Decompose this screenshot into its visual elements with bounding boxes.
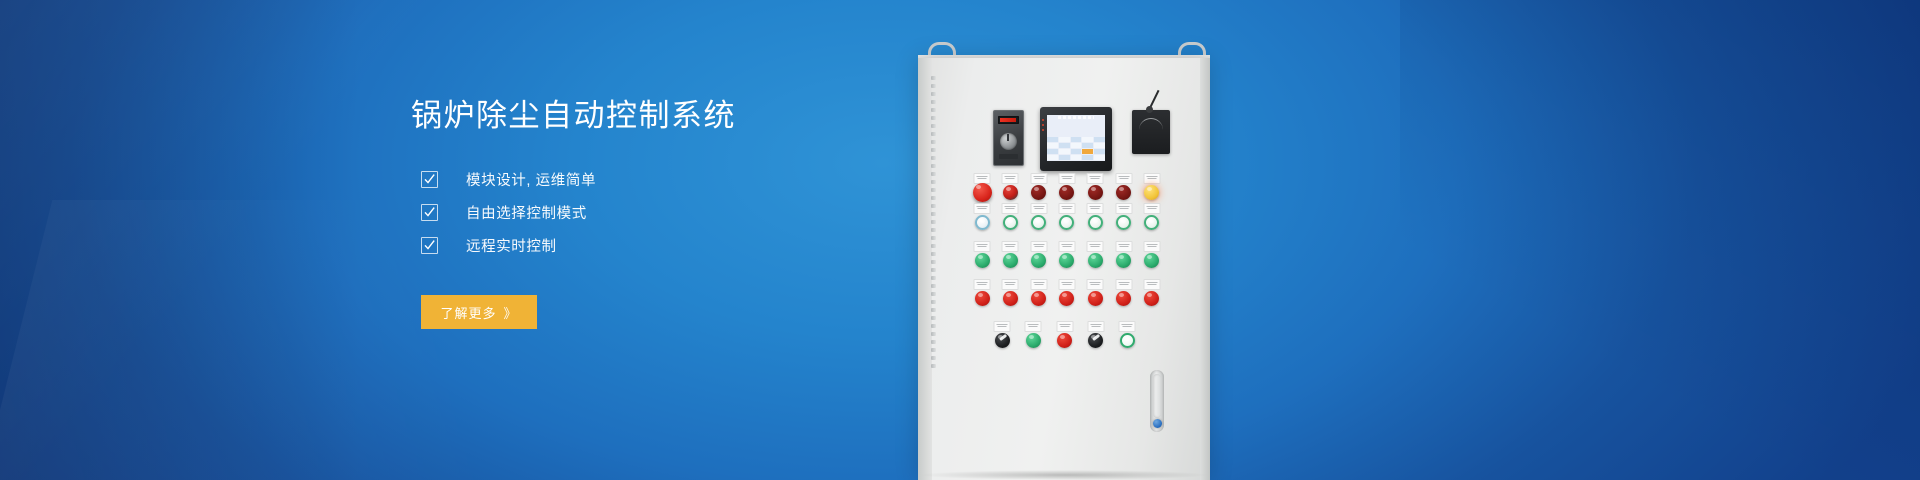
panel-button[interactable] xyxy=(1029,286,1049,316)
panel-button[interactable] xyxy=(972,286,992,316)
red-lamp-icon[interactable] xyxy=(1003,291,1018,306)
selector-switch-icon[interactable] xyxy=(995,333,1010,348)
background-vignette-right xyxy=(1400,0,1920,480)
white-green-ring-lamp-icon[interactable] xyxy=(1088,215,1103,230)
hmi-content-grid xyxy=(1047,117,1105,161)
panel-button[interactable] xyxy=(972,210,992,240)
button-row-3 xyxy=(972,248,1162,278)
green-lamp-icon[interactable] xyxy=(1026,333,1041,348)
white-green-ring-lamp-icon[interactable] xyxy=(1144,215,1159,230)
hero-banner: 锅炉除尘自动控制系统 模块设计, 运维简单 自由选择控制模式 远程实时控制 xyxy=(0,0,1920,480)
button-label-tag xyxy=(1115,279,1132,290)
white-green-ring-lamp-icon[interactable] xyxy=(1059,215,1074,230)
button-label-tag xyxy=(1056,321,1073,332)
panel-button[interactable] xyxy=(992,328,1012,358)
button-label-tag xyxy=(1119,321,1136,332)
button-label-tag xyxy=(1002,279,1019,290)
button-label-tag xyxy=(974,241,991,252)
panel-button[interactable] xyxy=(1057,248,1077,278)
analog-panel-meter xyxy=(1132,110,1170,154)
panel-button[interactable] xyxy=(1114,286,1134,316)
double-chevron-right-icon: 》 xyxy=(504,303,518,322)
panel-button[interactable] xyxy=(1029,248,1049,278)
green-lamp-icon[interactable] xyxy=(975,253,990,268)
panel-button[interactable] xyxy=(1057,286,1077,316)
red-lamp-icon[interactable] xyxy=(1059,291,1074,306)
panel-button[interactable] xyxy=(1142,210,1162,240)
button-label-tag xyxy=(974,203,991,214)
green-led-lamp-icon[interactable] xyxy=(1120,333,1135,348)
banner-copy: 锅炉除尘自动控制系统 模块设计, 运维简单 自由选择控制模式 远程实时控制 xyxy=(411,96,881,262)
button-label-tag xyxy=(1002,173,1019,184)
control-cabinet xyxy=(918,58,1210,480)
button-label-tag xyxy=(1115,203,1132,214)
green-lamp-icon[interactable] xyxy=(1003,253,1018,268)
red-lamp-icon[interactable] xyxy=(975,291,990,306)
panel-button[interactable] xyxy=(1000,210,1020,240)
list-item: 模块设计, 运维简单 xyxy=(421,163,881,196)
feature-label: 自由选择控制模式 xyxy=(466,202,587,223)
cabinet-left-edge xyxy=(918,58,932,480)
handle-bar xyxy=(1153,374,1161,418)
hmi-touchscreen[interactable] xyxy=(1040,107,1112,171)
button-label-tag xyxy=(1030,173,1047,184)
checkbox-checked-icon xyxy=(421,171,438,188)
product-photo xyxy=(900,0,1320,480)
panel-button[interactable] xyxy=(1055,328,1075,358)
button-label-tag xyxy=(974,279,991,290)
white-green-ring-lamp-icon[interactable] xyxy=(1031,215,1046,230)
button-label-tag xyxy=(1030,241,1047,252)
button-label-tag xyxy=(1058,241,1075,252)
button-label-tag xyxy=(1143,173,1160,184)
panel-button[interactable] xyxy=(1029,210,1049,240)
feature-label: 模块设计, 运维简单 xyxy=(466,169,596,190)
panel-button[interactable] xyxy=(1114,210,1134,240)
page-title: 锅炉除尘自动控制系统 xyxy=(411,96,881,136)
panel-button[interactable] xyxy=(1000,248,1020,278)
door-hinge-strip xyxy=(931,76,936,376)
emergency-stop-button-icon[interactable] xyxy=(973,183,992,202)
button-label-tag xyxy=(1030,279,1047,290)
button-label-tag xyxy=(1143,203,1160,214)
amber-lamp-lit-icon[interactable] xyxy=(1144,185,1159,200)
door-handle-with-lock[interactable] xyxy=(1150,370,1164,432)
panel-button[interactable] xyxy=(1114,248,1134,278)
button-label-tag xyxy=(1087,241,1104,252)
panel-button[interactable] xyxy=(1085,286,1105,316)
list-item: 远程实时控制 xyxy=(421,229,881,262)
green-lamp-icon[interactable] xyxy=(1031,253,1046,268)
cabinet-shadow xyxy=(918,470,1210,480)
button-label-tag xyxy=(1002,241,1019,252)
button-label-tag xyxy=(1115,173,1132,184)
button-label-tag xyxy=(1087,173,1104,184)
panel-button[interactable] xyxy=(1086,328,1106,358)
panel-button[interactable] xyxy=(972,248,992,278)
seven-segment-display xyxy=(998,116,1019,124)
lock-icon[interactable] xyxy=(1153,419,1162,428)
button-label-tag xyxy=(1087,203,1104,214)
button-label-tag xyxy=(1115,241,1132,252)
green-lamp-icon[interactable] xyxy=(1116,253,1131,268)
learn-more-button[interactable]: 了解更多 》 xyxy=(421,295,537,329)
hmi-screen xyxy=(1047,115,1105,161)
panel-button[interactable] xyxy=(1000,286,1020,316)
red-lamp-icon[interactable] xyxy=(1116,291,1131,306)
feature-label: 远程实时控制 xyxy=(466,235,557,256)
cabinet-right-edge xyxy=(1200,58,1210,480)
button-row-5 xyxy=(992,328,1137,358)
button-label-tag xyxy=(1058,173,1075,184)
dark-red-lamp-icon[interactable] xyxy=(1116,185,1131,200)
panel-button[interactable] xyxy=(1142,286,1162,316)
digital-speed-controller xyxy=(993,110,1024,166)
green-lamp-icon[interactable] xyxy=(1088,253,1103,268)
button-row-2 xyxy=(972,210,1162,240)
hmi-titlebar xyxy=(1047,116,1105,119)
button-label-tag xyxy=(1058,279,1075,290)
learn-more-label: 了解更多 xyxy=(440,303,496,322)
dark-red-lamp-icon[interactable] xyxy=(1059,185,1074,200)
rotary-knob-icon xyxy=(1000,133,1017,150)
panel-button[interactable] xyxy=(1085,210,1105,240)
button-label-tag xyxy=(1030,203,1047,214)
red-push-button-icon[interactable] xyxy=(1003,185,1018,200)
red-lamp-icon[interactable] xyxy=(1144,291,1159,306)
dark-red-lamp-icon[interactable] xyxy=(1088,185,1103,200)
green-lamp-icon[interactable] xyxy=(1144,253,1159,268)
hmi-status-leds xyxy=(1042,119,1044,134)
button-label-tag xyxy=(1058,203,1075,214)
checkbox-checked-icon xyxy=(421,237,438,254)
button-label-tag xyxy=(1087,321,1104,332)
white-green-ring-lamp-icon[interactable] xyxy=(1116,215,1131,230)
button-row-4 xyxy=(972,286,1162,316)
list-item: 自由选择控制模式 xyxy=(421,196,881,229)
dark-red-lamp-icon[interactable] xyxy=(1031,185,1046,200)
button-label-tag xyxy=(1002,203,1019,214)
white-green-ring-lamp-icon[interactable] xyxy=(1003,215,1018,230)
panel-button[interactable] xyxy=(1117,328,1137,358)
red-lamp-icon[interactable] xyxy=(1031,291,1046,306)
panel-button[interactable] xyxy=(1057,210,1077,240)
button-label-tag xyxy=(1143,279,1160,290)
panel-button[interactable] xyxy=(1085,248,1105,278)
indicator-button-grid xyxy=(972,180,1162,358)
button-label-tag xyxy=(1025,321,1042,332)
button-label-tag xyxy=(994,321,1011,332)
button-label-tag xyxy=(1143,241,1160,252)
selector-switch-icon[interactable] xyxy=(1088,333,1103,348)
red-lamp-icon[interactable] xyxy=(1057,333,1072,348)
button-label-tag xyxy=(1087,279,1104,290)
background-vignette-left xyxy=(0,0,360,480)
panel-button[interactable] xyxy=(1142,248,1162,278)
feature-list: 模块设计, 运维简单 自由选择控制模式 远程实时控制 xyxy=(411,163,881,262)
white-lamp-icon[interactable] xyxy=(975,215,990,230)
checkbox-checked-icon xyxy=(421,204,438,221)
green-lamp-icon[interactable] xyxy=(1059,253,1074,268)
controller-label-strip xyxy=(999,154,1018,159)
panel-button[interactable] xyxy=(1023,328,1043,358)
red-lamp-icon[interactable] xyxy=(1088,291,1103,306)
